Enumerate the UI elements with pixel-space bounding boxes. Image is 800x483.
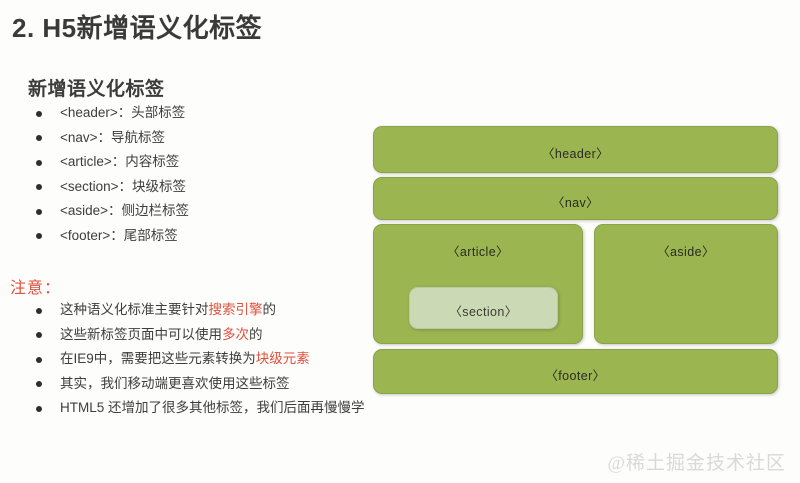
note-text-pre: HTML5 还增加了很多其他标签，我们后面再慢慢学 bbox=[60, 400, 365, 415]
note-text-highlight: 多次 bbox=[222, 327, 249, 342]
diagram-box-header-label: 〈header〉 bbox=[374, 143, 777, 162]
list-item: HTML5 还增加了很多其他标签，我们后面再慢慢学 bbox=[0, 396, 360, 421]
note-text-post: 的 bbox=[263, 302, 277, 317]
note-title: 注意： bbox=[10, 274, 360, 298]
diagram-box-aside-label: 〈aside〉 bbox=[595, 241, 777, 260]
note-text-highlight: 搜索引擎 bbox=[209, 302, 263, 317]
left-content-column: 新增语义化标签 <header>：头部标签 <nav>：导航标签 <articl… bbox=[0, 74, 360, 421]
diagram-box-section-label: 〈section〉 bbox=[410, 301, 557, 320]
list-item: <footer>：尾部标签 bbox=[0, 224, 360, 249]
tag-item-label: <nav>：导航标签 bbox=[60, 130, 165, 145]
tag-item-label: <section>：块级标签 bbox=[60, 179, 186, 194]
diagram-box-footer: 〈footer〉 bbox=[373, 349, 778, 394]
tag-item-label: <header>：头部标签 bbox=[60, 105, 185, 120]
diagram-box-header: 〈header〉 bbox=[373, 126, 778, 173]
note-text-post: 的 bbox=[249, 327, 263, 342]
list-item: <article>：内容标签 bbox=[0, 150, 360, 175]
list-item: <header>：头部标签 bbox=[0, 101, 360, 126]
note-text-highlight: 块级元素 bbox=[256, 351, 310, 366]
list-item: <section>：块级标签 bbox=[0, 175, 360, 200]
section-heading: 新增语义化标签 bbox=[28, 74, 360, 101]
diagram-box-article-label: 〈article〉 bbox=[374, 241, 582, 260]
list-item: <aside>：侧边栏标签 bbox=[0, 199, 360, 224]
list-item: 其实，我们移动端更喜欢使用这些标签 bbox=[0, 372, 360, 397]
note-text-pre: 这些新标签页面中可以使用 bbox=[60, 327, 222, 342]
diagram-box-article: 〈article〉 〈section〉 bbox=[373, 224, 583, 344]
list-item: 这些新标签页面中可以使用多次的 bbox=[0, 323, 360, 348]
html5-layout-diagram: 〈header〉 〈nav〉 〈article〉 〈section〉 〈asid… bbox=[373, 126, 778, 398]
diagram-box-nav-label: 〈nav〉 bbox=[374, 192, 777, 211]
page-title: 2. H5新增语义化标签 bbox=[12, 8, 262, 45]
list-item: <nav>：导航标签 bbox=[0, 126, 360, 151]
tag-item-label: <aside>：侧边栏标签 bbox=[60, 203, 189, 218]
note-text-pre: 这种语义化标准主要针对 bbox=[60, 302, 209, 317]
diagram-box-aside: 〈aside〉 bbox=[594, 224, 778, 344]
note-text-pre: 在IE9中，需要把这些元素转换为 bbox=[60, 351, 256, 366]
tag-item-label: <article>：内容标签 bbox=[60, 154, 179, 169]
list-item: 这种语义化标准主要针对搜索引擎的 bbox=[0, 298, 360, 323]
diagram-box-nav: 〈nav〉 bbox=[373, 177, 778, 220]
semantic-tag-list: <header>：头部标签 <nav>：导航标签 <article>：内容标签 … bbox=[0, 101, 360, 248]
note-list: 这种语义化标准主要针对搜索引擎的 这些新标签页面中可以使用多次的 在IE9中，需… bbox=[0, 298, 360, 421]
watermark: @稀土掘金技术社区 bbox=[608, 448, 787, 475]
tag-item-label: <footer>：尾部标签 bbox=[60, 228, 178, 243]
list-item: 在IE9中，需要把这些元素转换为块级元素 bbox=[0, 347, 360, 372]
diagram-box-footer-label: 〈footer〉 bbox=[374, 365, 777, 384]
note-text-pre: 其实，我们移动端更喜欢使用这些标签 bbox=[60, 376, 290, 391]
diagram-box-section: 〈section〉 bbox=[409, 287, 558, 329]
